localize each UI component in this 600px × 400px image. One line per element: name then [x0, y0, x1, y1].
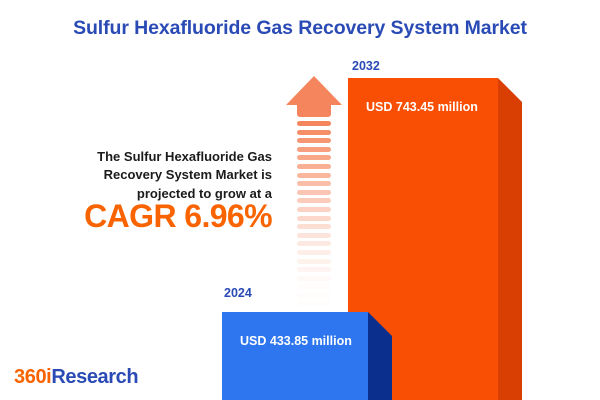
- arrow-bar-segment: [297, 259, 331, 264]
- arrow-bar-segment: [297, 284, 331, 289]
- arrow-bar-segment: [297, 164, 331, 169]
- arrow-neck-shape: [297, 104, 331, 117]
- page-title: Sulfur Hexafluoride Gas Recovery System …: [0, 17, 600, 40]
- arrow-bar-segment: [297, 181, 331, 186]
- arrow-bar-segment: [297, 138, 331, 143]
- brand-logo-suffix: Research: [51, 366, 138, 388]
- arrow-bar-segment: [297, 173, 331, 178]
- up-arrow-growth-icon: [286, 76, 342, 296]
- arrow-bar-segment: [297, 267, 331, 272]
- year-label-2024: 2024: [224, 286, 252, 300]
- arrow-bar-segment: [297, 276, 331, 281]
- brand-logo-prefix: 360i: [14, 366, 51, 388]
- arrow-bar-stack: [297, 121, 331, 310]
- arrow-bar-segment: [297, 293, 331, 298]
- bar-value-2024: USD 433.85 million: [240, 334, 352, 348]
- arrow-bar-segment: [297, 224, 331, 229]
- arrow-bar-segment: [297, 241, 331, 246]
- projection-statement: The Sulfur Hexafluoride Gas Recovery Sys…: [60, 148, 272, 203]
- arrow-bar-segment: [297, 130, 331, 135]
- bar-value-2032: USD 743.45 million: [366, 100, 478, 114]
- arrow-bar-segment: [297, 190, 331, 195]
- arrow-bar-segment: [297, 198, 331, 203]
- arrow-bar-segment: [297, 147, 331, 152]
- arrow-bar-segment: [297, 207, 331, 212]
- brand-logo: 360iResearch: [14, 366, 138, 389]
- bar-2024-front-face: [222, 312, 368, 400]
- infographic-canvas: Sulfur Hexafluoride Gas Recovery System …: [0, 0, 600, 400]
- arrow-bar-segment: [297, 250, 331, 255]
- bar-2024: USD 433.85 million: [222, 312, 368, 400]
- arrow-bar-segment: [297, 233, 331, 238]
- arrow-bar-segment: [297, 216, 331, 221]
- year-label-2032: 2032: [352, 59, 380, 73]
- bar-2032-side-face: [498, 78, 522, 400]
- arrow-bar-segment: [297, 155, 331, 160]
- arrow-bar-segment: [297, 121, 331, 126]
- cagr-value: CAGR 6.96%: [52, 198, 272, 235]
- arrow-head-shape: [286, 76, 342, 105]
- arrow-bar-segment: [297, 301, 331, 306]
